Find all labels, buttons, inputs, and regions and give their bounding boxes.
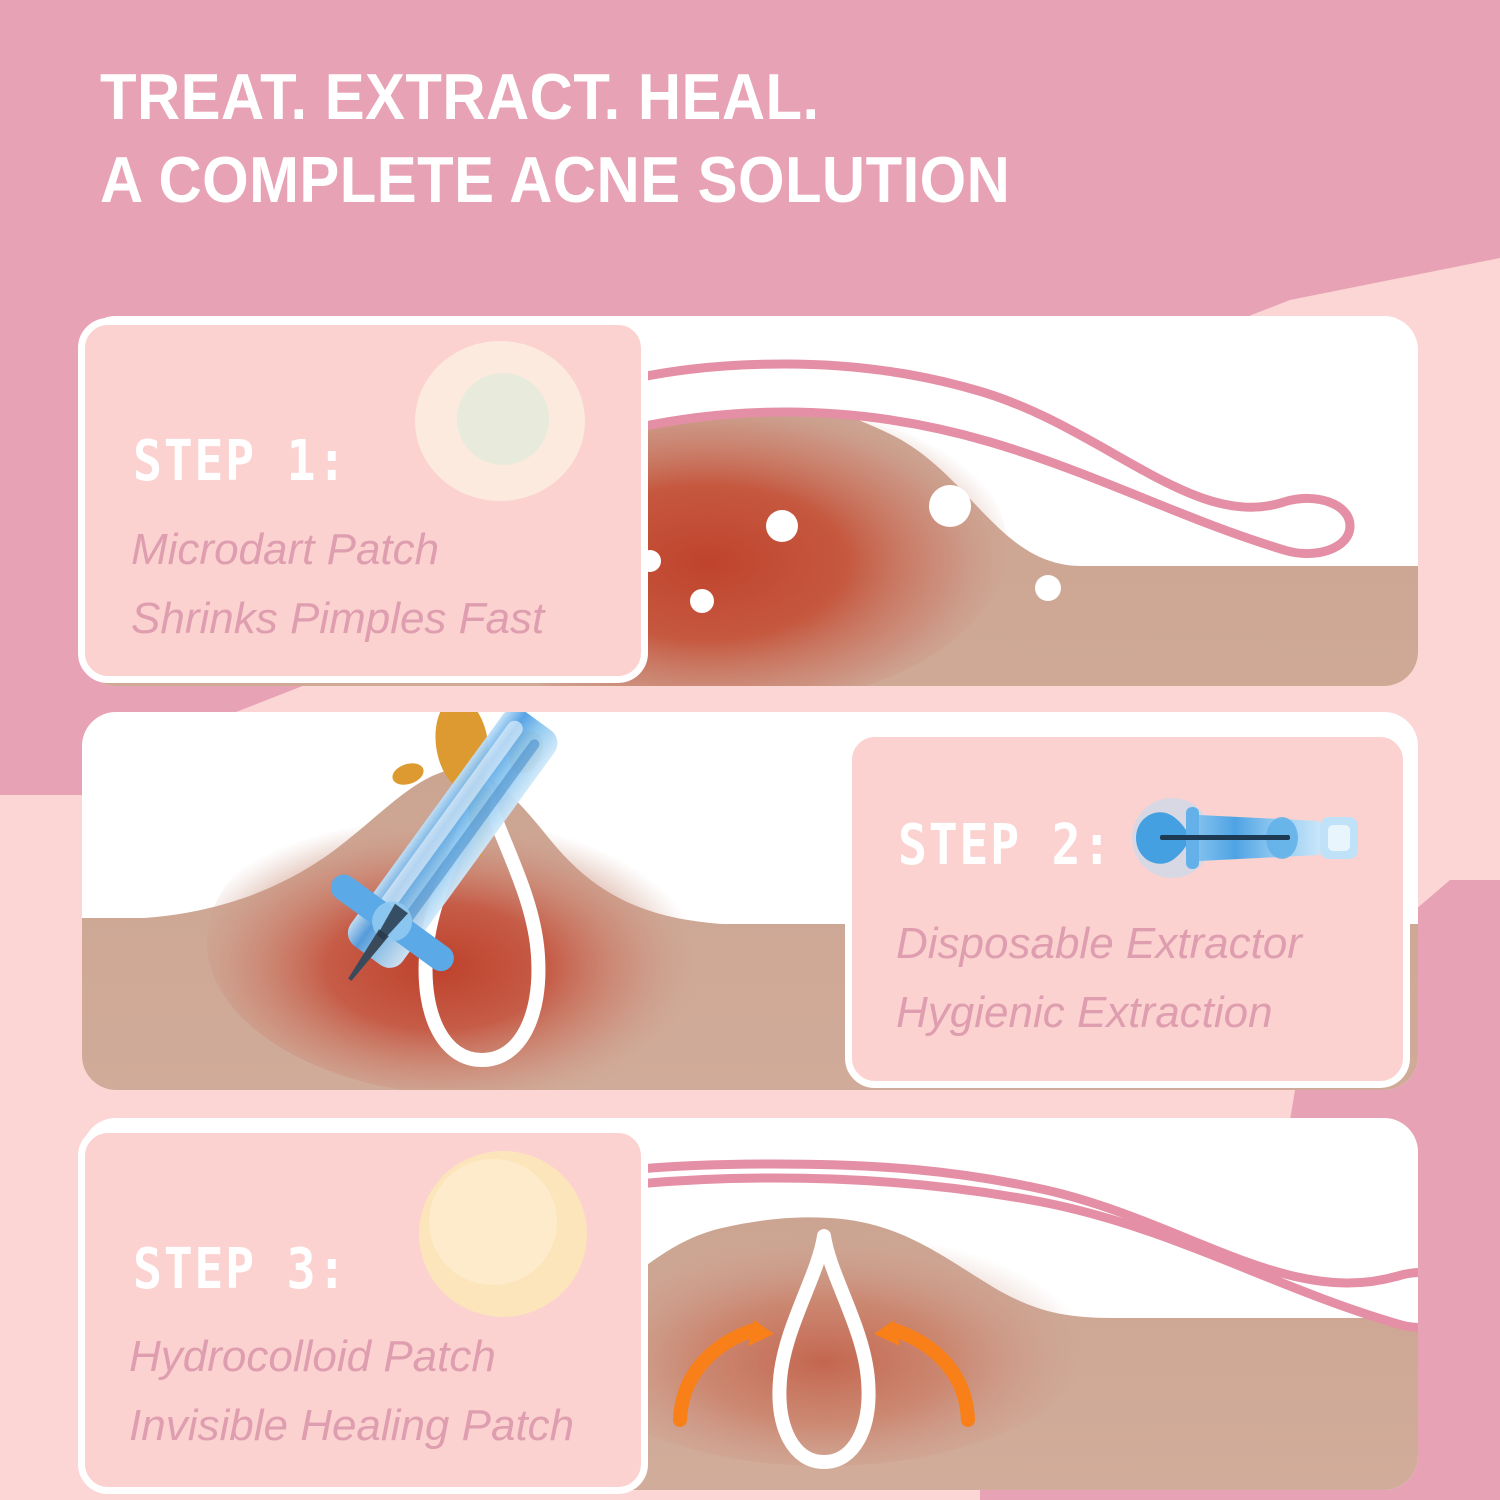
hydrocolloid-patch-highlight [429, 1159, 557, 1285]
step-3-description-line-2: Invisible Healing Patch [129, 1394, 574, 1457]
step-1-description-line-1: Microdart Patch [131, 518, 439, 581]
step-2-description-line-2: Hygienic Extraction [896, 981, 1273, 1044]
extractor-tool-icon [1124, 795, 1374, 881]
step-3-label: STEP 3: [133, 1237, 348, 1302]
step-2-label: STEP 2: [898, 813, 1113, 878]
step-1-card[interactable]: STEP 1: Microdart Patch Shrinks Pimples … [78, 318, 648, 683]
step-3-description-line-1: Hydrocolloid Patch [129, 1325, 496, 1388]
headline-line-1: TREAT. EXTRACT. HEAL. [100, 55, 1296, 138]
page-title: TREAT. EXTRACT. HEAL. A COMPLETE ACNE SO… [100, 55, 1400, 221]
step-2-card[interactable]: STEP 2: Disposable Extractor Hygienic Ex… [845, 730, 1410, 1088]
step-1-description-line-2: Shrinks Pimples Fast [131, 587, 544, 650]
headline-line-2: A COMPLETE ACNE SOLUTION [100, 138, 1296, 221]
infographic-stage: TREAT. EXTRACT. HEAL. A COMPLETE ACNE SO… [0, 0, 1500, 1500]
step-1-label: STEP 1: [133, 429, 348, 494]
microdart-patch-core [457, 373, 549, 465]
step-3-card[interactable]: STEP 3: Hydrocolloid Patch Invisible Hea… [78, 1126, 648, 1494]
step-2-description-line-1: Disposable Extractor [896, 912, 1302, 975]
